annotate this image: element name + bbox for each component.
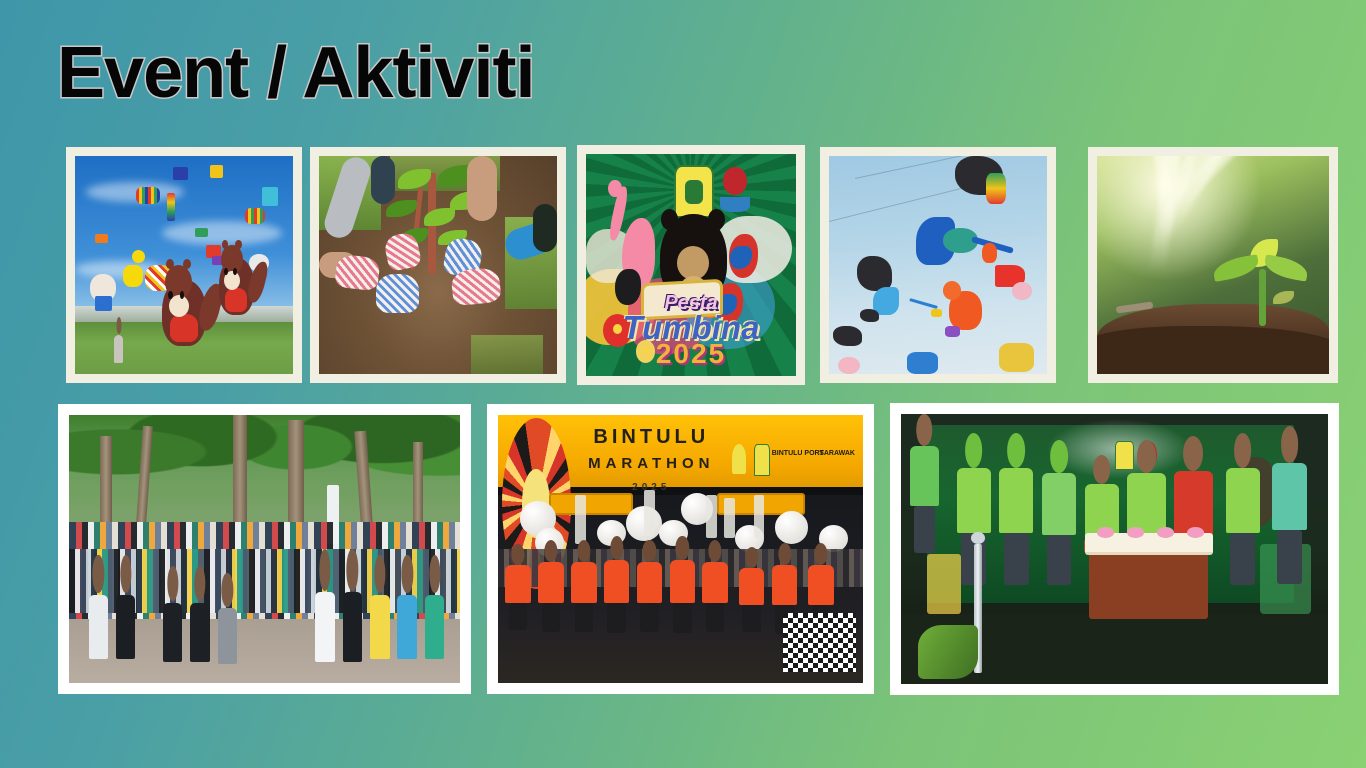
bear-muzzle — [677, 246, 709, 280]
kite-tail — [986, 173, 1006, 204]
visitor — [114, 335, 123, 363]
feather-flag — [706, 495, 717, 538]
foliage-decor — [918, 625, 978, 679]
council-logo-icon — [674, 165, 714, 218]
kite-small-orange — [982, 243, 997, 263]
department-logo-icon — [720, 167, 749, 211]
official-person — [1226, 468, 1260, 533]
crowd-official — [315, 592, 335, 662]
soil-mound-front — [1097, 326, 1329, 374]
photo-tree-planting-hands — [319, 156, 557, 374]
flamingo-head — [608, 180, 621, 197]
chipmunk-eye — [233, 268, 237, 275]
kite-dark — [857, 256, 892, 291]
kite-dragon — [916, 217, 955, 265]
feather-flag — [724, 498, 735, 538]
photo-kites-in-sky — [829, 156, 1047, 374]
arm-bare — [467, 156, 498, 221]
sarawak-logo: SARAWAK — [819, 450, 855, 457]
photo-seedling-sunrays — [1097, 156, 1329, 374]
feather-flag — [754, 495, 765, 538]
kite — [262, 187, 277, 207]
official-person — [910, 446, 940, 505]
crowd-child — [163, 603, 183, 662]
photo-kite-festival-chipmunks — [75, 156, 293, 374]
kite — [123, 265, 143, 287]
tree-canopy — [69, 415, 460, 538]
kite — [210, 165, 223, 178]
council-logo-icon — [1115, 441, 1134, 470]
tree-trunk — [233, 415, 247, 538]
feather-flag — [575, 495, 586, 543]
crowd-child — [218, 608, 238, 664]
kite-small — [945, 326, 960, 337]
official-person — [1042, 473, 1076, 535]
runner — [702, 562, 728, 602]
kite — [95, 234, 108, 243]
grass — [471, 335, 542, 374]
globe-shape — [723, 167, 747, 195]
runner — [604, 560, 630, 603]
arm-sleeve — [371, 156, 395, 204]
crowd-participant — [89, 595, 109, 659]
runner — [772, 565, 798, 605]
logo-base-shape — [720, 197, 749, 212]
chipmunk-eye — [224, 268, 228, 275]
kite-small — [838, 357, 860, 374]
runner — [505, 565, 531, 603]
kite — [173, 167, 188, 180]
backdrop-banner-art — [927, 554, 961, 613]
runner — [571, 562, 597, 602]
photo-frame-kite-festival[interactable] — [66, 147, 302, 383]
photo-frame-kites-sky[interactable] — [820, 147, 1056, 383]
runner — [637, 562, 663, 602]
smiley-kite — [132, 250, 145, 263]
page-title: Event / Aktiviti — [57, 36, 534, 112]
chipmunk-kite — [219, 258, 254, 315]
kite-small — [931, 309, 942, 318]
runner — [739, 568, 765, 606]
kite — [195, 228, 208, 237]
photo-frame-bintulu-marathon[interactable]: BINTULU MARATHON 2025 BINTULU PORT SARAW… — [487, 404, 874, 694]
kite-dark — [833, 326, 861, 346]
photo-bintulu-marathon: BINTULU MARATHON 2025 BINTULU PORT SARAW… — [498, 415, 863, 683]
kite-dark — [860, 309, 880, 322]
poster-line-year: 2025 — [586, 338, 796, 370]
crowd-participant — [425, 595, 445, 659]
runner — [670, 560, 696, 603]
sarawak-crest-icon — [732, 444, 747, 473]
light-box — [549, 493, 633, 516]
macaw-wing — [730, 246, 752, 269]
crowd-participant — [116, 595, 136, 659]
crowd-participant — [370, 595, 390, 659]
photo-park-group-crowd — [69, 415, 460, 683]
crowd-official — [343, 592, 363, 662]
kite-dinosaur-head — [943, 281, 961, 300]
official-person — [1127, 473, 1165, 535]
crowd-child — [190, 603, 210, 662]
checkered-flag — [783, 613, 856, 672]
bintulu-port-logo: BINTULU PORT — [772, 450, 824, 457]
photo-frame-cake-ceremony[interactable] — [890, 403, 1339, 695]
crowd-participant — [397, 595, 417, 659]
runner — [808, 565, 834, 605]
kite-small — [1012, 282, 1032, 299]
kite-tail — [167, 193, 176, 221]
marathon-title: BINTULU — [578, 426, 724, 449]
runner — [538, 562, 564, 602]
ceremony-table — [1089, 549, 1209, 619]
balloon — [775, 511, 808, 543]
bag — [533, 204, 557, 252]
chipmunk-kite — [162, 280, 206, 345]
feather-flag — [644, 490, 655, 536]
official-person — [957, 468, 991, 533]
glove-pink — [451, 267, 502, 307]
kite-windsock — [245, 208, 265, 223]
glove-pink — [334, 254, 380, 291]
photo-frame-seedling[interactable] — [1088, 147, 1338, 383]
bear-ear — [661, 209, 678, 230]
marathon-subtitle: MARATHON — [578, 455, 724, 472]
kite — [95, 296, 112, 311]
photo-frame-tree-planting[interactable] — [310, 147, 566, 383]
council-logo-icon — [754, 444, 771, 475]
kite-small — [999, 343, 1034, 371]
photo-pesta-tumbina-poster: Pesta Tumbina 2025 — [586, 154, 796, 376]
photo-frame-park-group[interactable] — [58, 404, 471, 694]
kite-small — [907, 352, 938, 374]
kite-dinosaur — [949, 291, 982, 330]
sprout-stem — [1259, 269, 1266, 326]
official-person — [1272, 463, 1306, 531]
photo-frame-pesta-tumbina-poster[interactable]: Pesta Tumbina 2025 — [577, 145, 805, 385]
kite-windsock — [136, 187, 160, 204]
official-person — [999, 468, 1033, 533]
vip-person-red-vest — [1174, 471, 1212, 536]
photo-cake-cutting-ceremony — [901, 414, 1328, 684]
glove-blue — [376, 274, 419, 313]
